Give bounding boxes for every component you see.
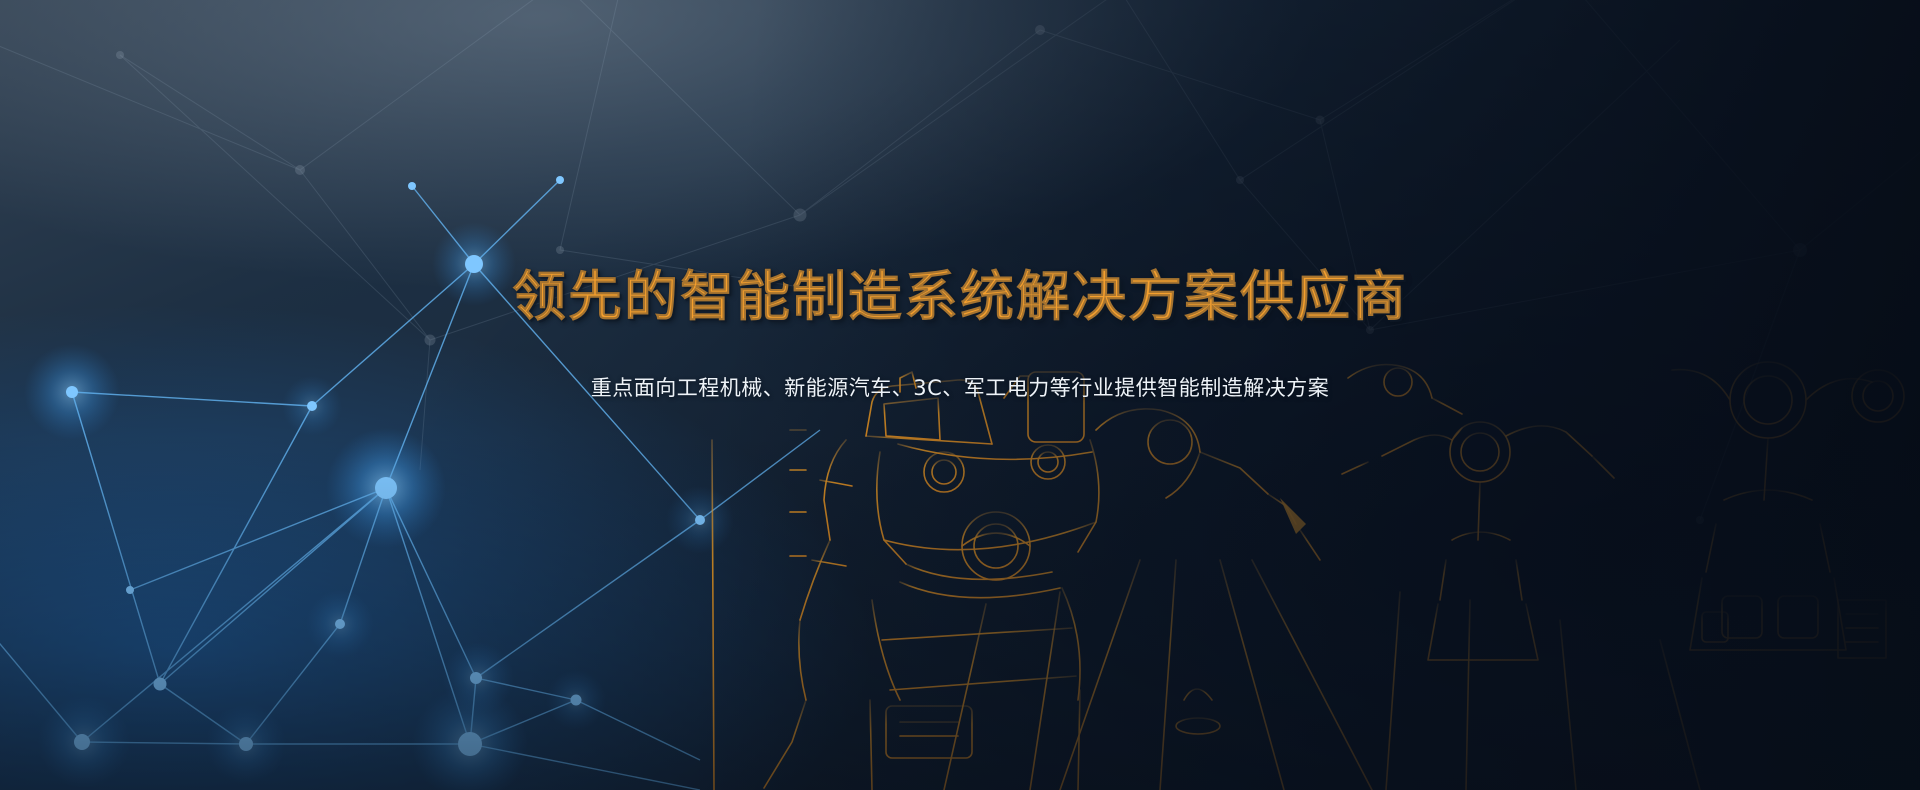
page-subtitle: 重点面向工程机械、新能源汽车、3C、军工电力等行业提供智能制造解决方案 [0,372,1920,402]
hero-banner: 领先的智能制造系统解决方案供应商 重点面向工程机械、新能源汽车、3C、军工电力等… [0,0,1920,790]
page-title: 领先的智能制造系统解决方案供应商 [0,252,1920,331]
